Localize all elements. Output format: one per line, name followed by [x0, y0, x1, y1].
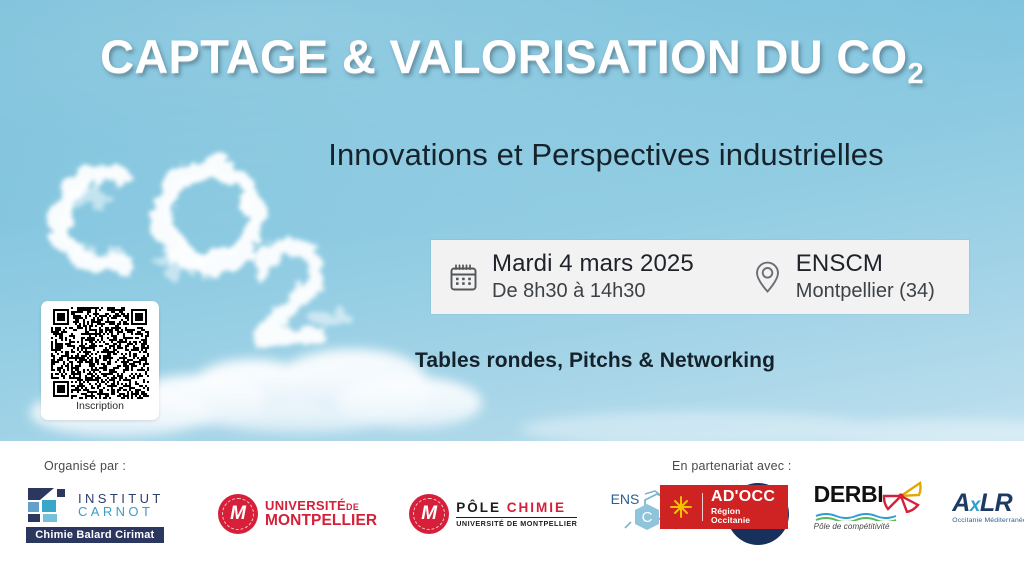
logo-derbi: DERBI Pôle de compétitivité: [814, 483, 927, 531]
event-date-secondary: De 8h30 à 14h30: [492, 279, 694, 303]
logo-universite-de-montpellier: M UNIVERSITÉDE MONTPELLIER: [218, 494, 377, 534]
poster-subtitle: Innovations et Perspectives industrielle…: [0, 137, 1024, 173]
event-place-lines: ENSCM Montpellier (34): [796, 251, 935, 304]
derbi-word: DERBI: [814, 483, 884, 506]
qr-code-image[interactable]: [51, 307, 149, 399]
um-line2: MONTPELLIER: [265, 513, 377, 529]
pole-seal-icon: M: [409, 494, 449, 534]
adocc-line1: AD'OCC: [711, 489, 780, 506]
pole-line2: UNIVERSITÉ DE MONTPELLIER: [456, 517, 577, 528]
event-poster: CAPTAGE & VALORISATION DU CO2 Innovation…: [0, 0, 1024, 576]
carnot-badge: Chimie Balard Cirimat: [26, 527, 164, 543]
occitan-cross-icon: [668, 494, 694, 520]
partner-logo-row: AD'OCC Région Occitanie DERBI: [660, 483, 1024, 531]
carnot-line1: INSTITUT: [78, 492, 164, 505]
logo-adocc: AD'OCC Région Occitanie: [660, 485, 788, 529]
carnot-mark-icon: [26, 486, 72, 524]
event-place-block: ENSCM Montpellier (34): [752, 251, 935, 304]
enscm-ens-letters: ENS: [611, 491, 640, 507]
logo-institut-carnot: INSTITUT CARNOT Chimie Balard Cirimat: [26, 486, 186, 543]
event-info-box: Mardi 4 mars 2025 De 8h30 à 14h30 ENSCM …: [431, 240, 969, 314]
logo-pole-chimie: M PÔLE CHIMIE UNIVERSITÉ DE MONTPELLIER: [409, 494, 577, 534]
pole-seal-letter: M: [409, 494, 449, 534]
registration-qr-card[interactable]: Inscription: [41, 301, 159, 420]
derbi-sub: Pôle de compétitivité: [814, 522, 923, 531]
axlr-word: AxLR: [952, 491, 1024, 516]
poster-title: CAPTAGE & VALORISATION DU CO2: [0, 32, 1024, 81]
axlr-sub: Occitanie Méditerranée: [952, 517, 1024, 524]
um-seal-icon: M: [218, 494, 258, 534]
calendar-icon: [448, 262, 479, 293]
event-date-primary: Mardi 4 mars 2025: [492, 251, 694, 278]
qr-code-label: Inscription: [76, 401, 124, 412]
adocc-divider: [702, 493, 703, 521]
event-date-block: Mardi 4 mars 2025 De 8h30 à 14h30: [448, 251, 694, 304]
carnot-line2: CARNOT: [78, 505, 164, 518]
partners-label: En partenariat avec :: [672, 459, 792, 473]
derbi-turbine-icon: [880, 479, 922, 513]
location-pin-icon: [752, 260, 783, 294]
poster-footer: Organisé par : En partenariat avec :: [0, 441, 1024, 576]
event-place-primary: ENSCM: [796, 251, 935, 278]
organisers-label: Organisé par :: [44, 459, 126, 473]
um-seal-letter: M: [218, 494, 258, 534]
poster-title-text: CAPTAGE & VALORISATION DU CO: [100, 30, 907, 83]
pole-line1: PÔLE CHIMIE: [456, 501, 577, 515]
logo-axlr: AxLR Occitanie Méditerranée: [952, 491, 1024, 524]
um-line1: UNIVERSITÉDE: [265, 499, 377, 512]
adocc-line2: Région Occitanie: [711, 507, 780, 525]
event-place-secondary: Montpellier (34): [796, 279, 935, 303]
derbi-wave-icon: [814, 511, 906, 521]
event-date-lines: Mardi 4 mars 2025 De 8h30 à 14h30: [492, 251, 694, 304]
poster-title-subscript: 2: [907, 58, 923, 90]
enscm-c-letter: C: [642, 509, 653, 526]
